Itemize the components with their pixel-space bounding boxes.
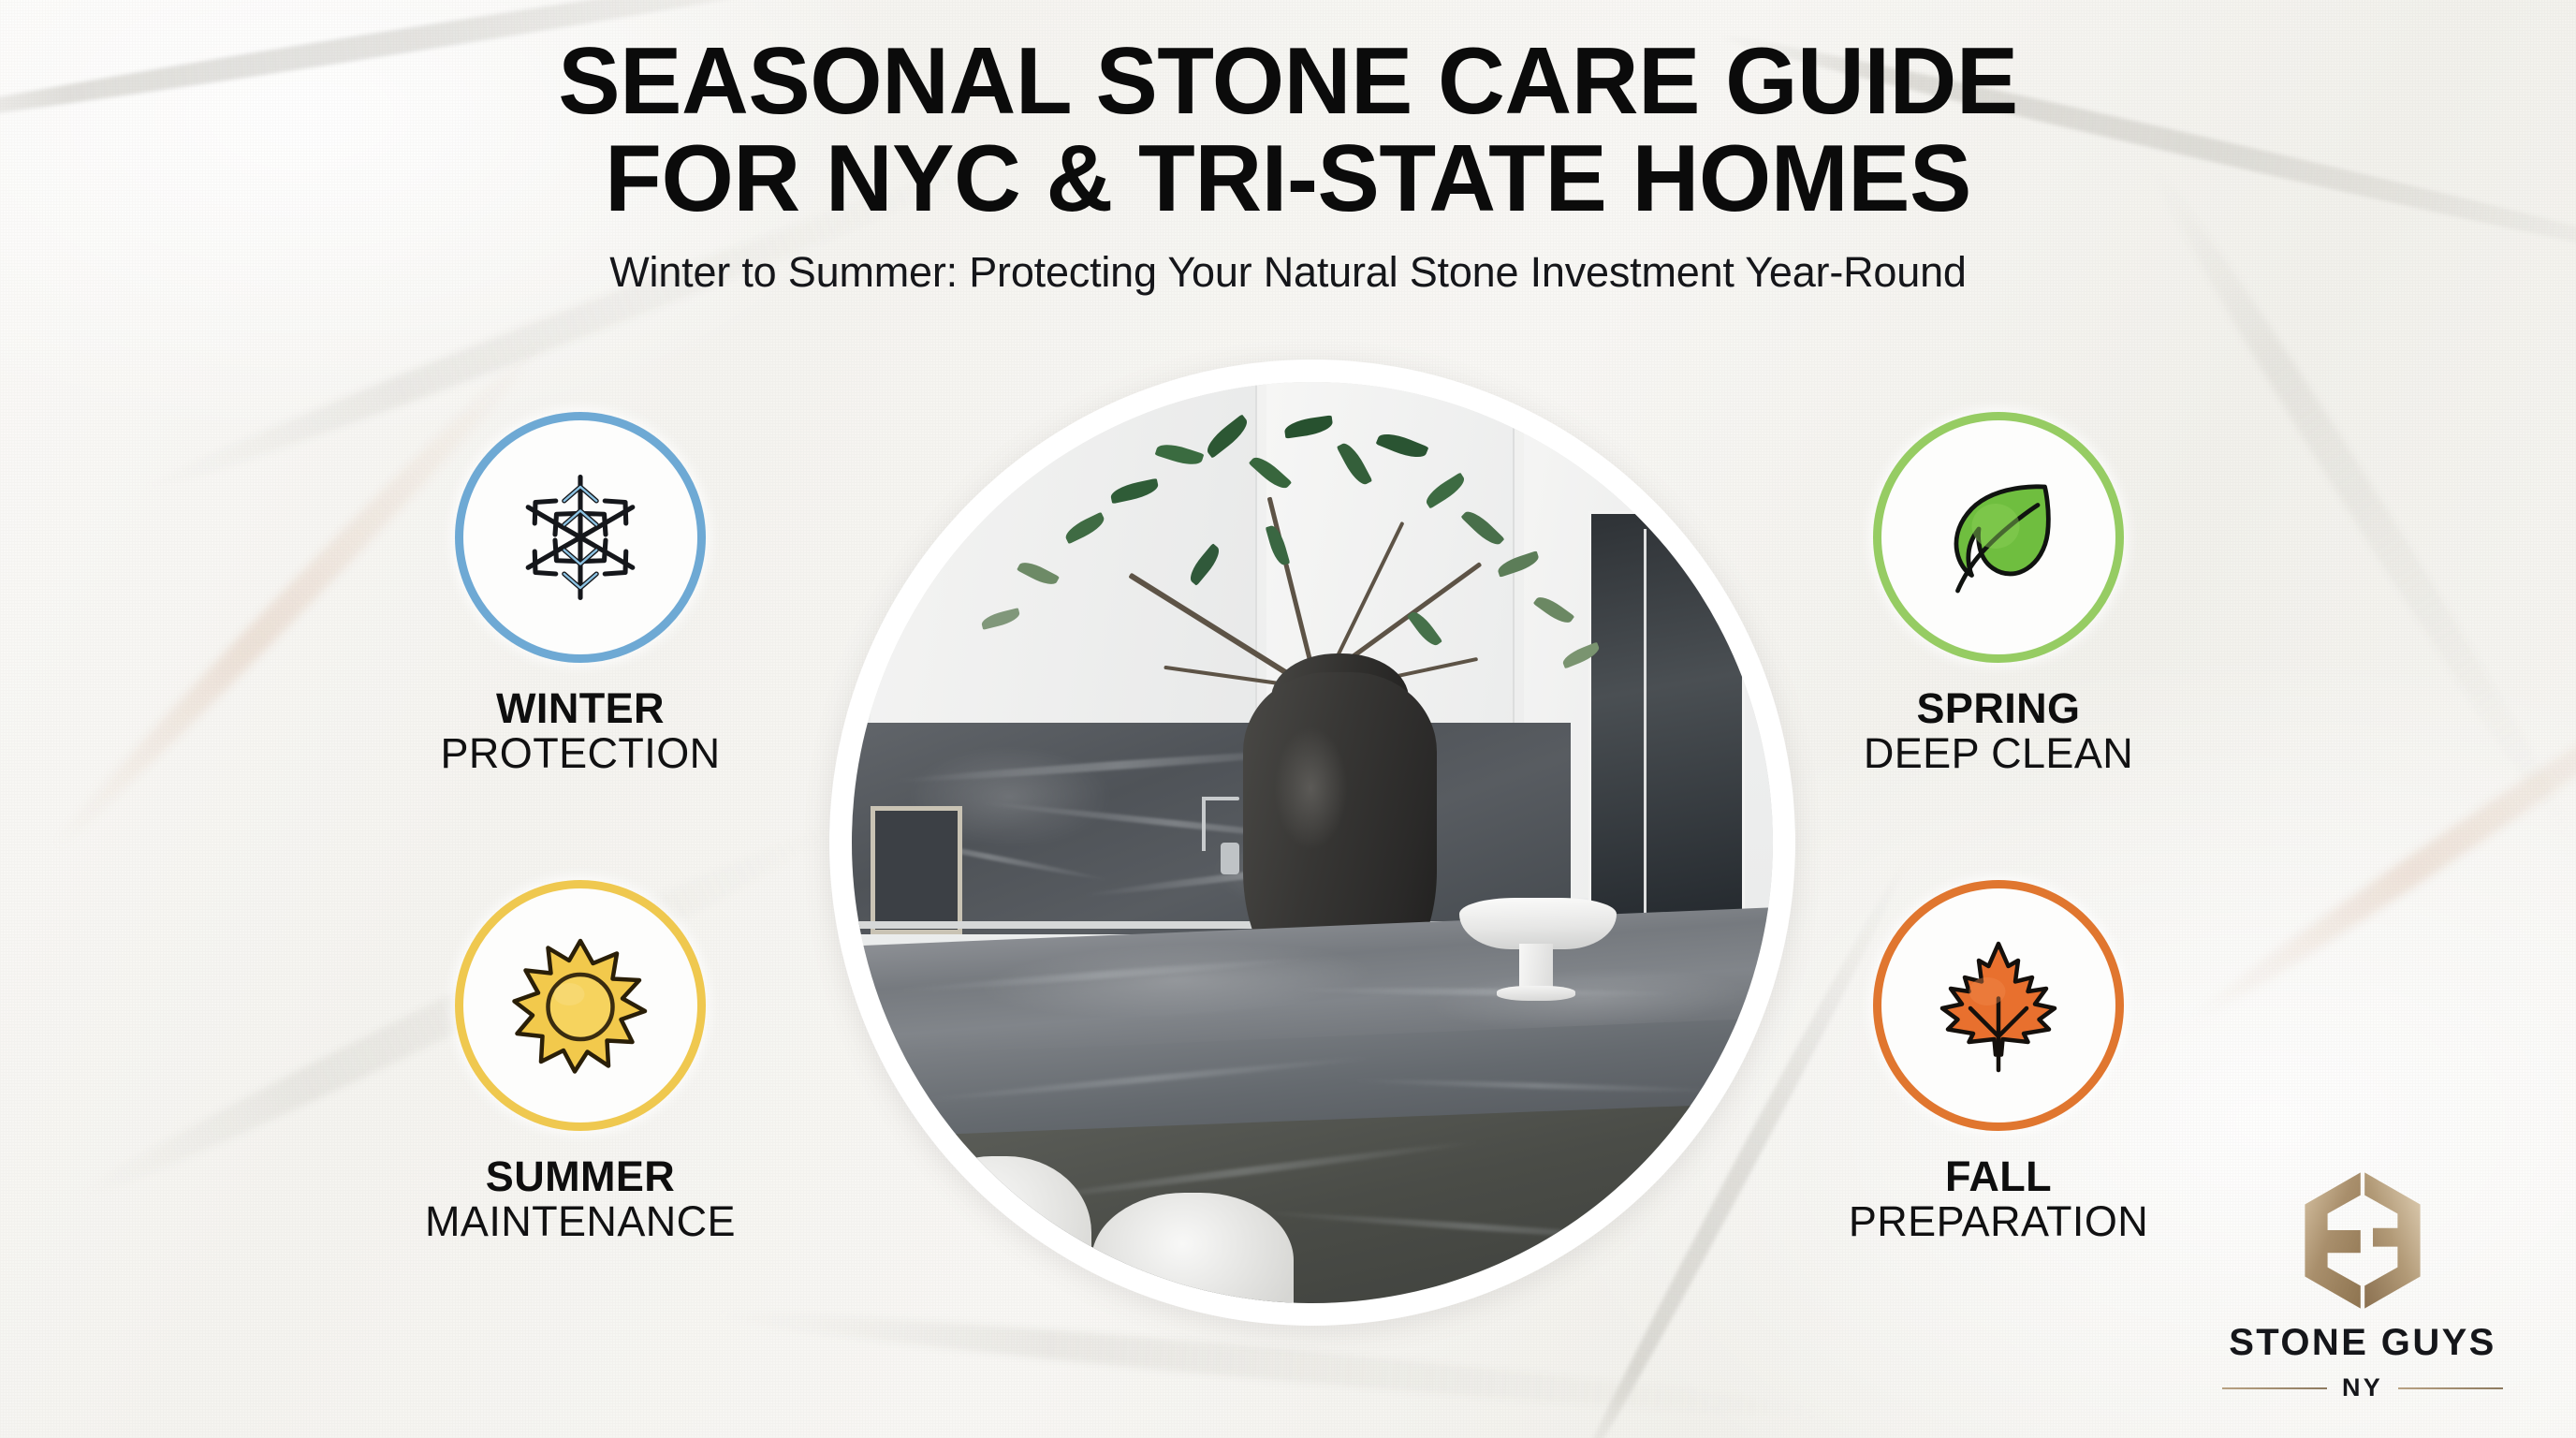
photo-window <box>1588 511 1745 953</box>
sun-icon <box>510 935 651 1076</box>
logo-sub-row: NY <box>2222 1373 2503 1402</box>
photo-stool <box>907 1156 1091 1303</box>
logo-name: STONE GUYS <box>2222 1322 2503 1364</box>
maple-leaf-icon <box>1928 935 2069 1076</box>
photo-faucet-spout <box>1202 797 1239 800</box>
summer-action-label: MAINTENANCE <box>425 1200 736 1243</box>
summer-badge[interactable] <box>455 880 706 1131</box>
season-card-summer[interactable]: SUMMER MAINTENANCE <box>337 880 824 1243</box>
photo-picture-frame <box>871 806 962 935</box>
logo-rule-right <box>2398 1387 2503 1389</box>
winter-labels: WINTER PROTECTION <box>440 687 720 775</box>
photo-faucet-body <box>1221 843 1239 874</box>
photo-pedestal-foot <box>1497 986 1576 1002</box>
photo-pedestal-stem <box>1519 944 1552 990</box>
winter-badge[interactable] <box>455 412 706 663</box>
summer-season-label: SUMMER <box>425 1155 736 1198</box>
page-title-line-2: FOR NYC & TRI-STATE HOMES <box>20 133 2557 226</box>
spring-season-label: SPRING <box>1864 687 2133 730</box>
season-card-fall[interactable]: FALL PREPARATION <box>1755 880 2242 1243</box>
photo-pedestal-bowl <box>1459 898 1616 949</box>
page-title-line-1: SEASONAL STONE CARE GUIDE <box>20 36 2557 128</box>
header: SEASONAL STONE CARE GUIDE FOR NYC & TRI-… <box>0 36 2576 297</box>
spring-badge[interactable] <box>1873 412 2124 663</box>
spring-action-label: DEEP CLEAN <box>1864 732 2133 775</box>
summer-labels: SUMMER MAINTENANCE <box>425 1155 736 1243</box>
page-subtitle: Winter to Summer: Protecting Your Natura… <box>0 248 2576 297</box>
photo-window-mullion <box>1644 529 1647 934</box>
logo-sub: NY <box>2342 1373 2383 1402</box>
fall-badge[interactable] <box>1873 880 2124 1131</box>
center-photo-ring <box>829 359 1795 1326</box>
winter-action-label: PROTECTION <box>440 732 720 775</box>
snowflake-icon <box>510 467 651 608</box>
fall-season-label: FALL <box>1849 1155 2148 1198</box>
infographic-poster: SEASONAL STONE CARE GUIDE FOR NYC & TRI-… <box>0 0 2576 1438</box>
spring-labels: SPRING DEEP CLEAN <box>1864 687 2133 775</box>
season-card-spring[interactable]: SPRING DEEP CLEAN <box>1755 412 2242 775</box>
kitchen-photo <box>852 382 1773 1303</box>
leaf-icon <box>1928 467 2069 608</box>
photo-faucet-column <box>1202 797 1206 851</box>
sg-monogram-icon <box>2301 1170 2424 1311</box>
brand-logo[interactable]: STONE GUYS NY <box>2222 1170 2503 1402</box>
season-card-winter[interactable]: WINTER PROTECTION <box>337 412 824 775</box>
logo-rule-left <box>2222 1387 2327 1389</box>
winter-season-label: WINTER <box>440 687 720 730</box>
fall-labels: FALL PREPARATION <box>1849 1155 2148 1243</box>
fall-action-label: PREPARATION <box>1849 1200 2148 1243</box>
